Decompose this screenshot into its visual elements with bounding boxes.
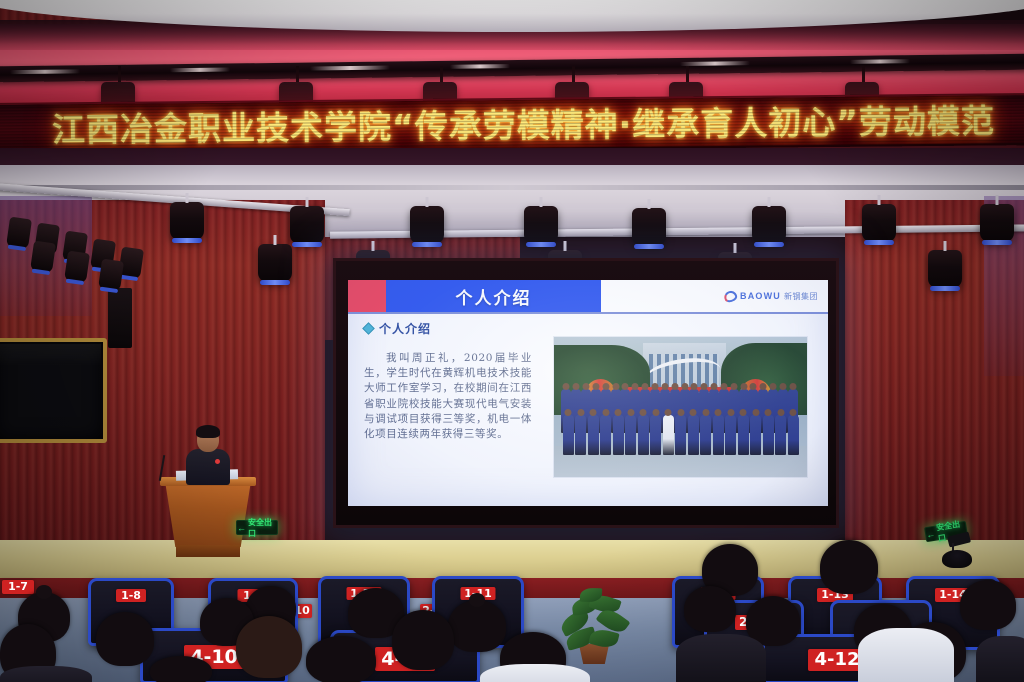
audience-member-head xyxy=(684,586,736,632)
slide-header-accent xyxy=(348,280,386,312)
photo-person xyxy=(625,415,636,455)
presentation-slide: 个人介绍 BAOWU 新钢集团 个人介绍 我叫周正礼，2020届毕业生，学生时代… xyxy=(348,280,828,506)
auditorium-scene: 江西冶金职业技术学院“传承劳模精神·继承育人初心”劳动模范 个人介绍 xyxy=(0,0,1024,682)
photo-person xyxy=(738,415,749,455)
slide-header-title-block: 个人介绍 xyxy=(386,280,601,312)
photo-person xyxy=(575,415,586,455)
stage-light xyxy=(290,206,324,244)
audience-member-shoulders xyxy=(480,664,590,682)
potted-plant xyxy=(556,586,632,664)
stage-light xyxy=(524,206,558,244)
baowu-logo-text: BAOWU xyxy=(740,291,781,301)
photo-person xyxy=(763,415,774,455)
audience-member-head xyxy=(306,636,376,682)
audience-member-head xyxy=(392,610,454,670)
wall-display-screen xyxy=(0,338,107,443)
camera-rig xyxy=(942,534,972,568)
photo-person xyxy=(650,415,661,455)
photo-person xyxy=(775,415,786,455)
stage-light xyxy=(928,250,962,288)
slide-paragraph: 我叫周正礼，2020届毕业生，学生时代在黄辉机电技术技能大师工作室学习，在校期间… xyxy=(360,321,532,506)
stage-light xyxy=(6,217,32,250)
photo-person xyxy=(588,415,599,455)
photo-person xyxy=(788,415,799,455)
stage-light xyxy=(30,241,56,274)
stage-light xyxy=(752,206,786,244)
photo-people-group xyxy=(559,390,802,454)
slide-header-logo-area: BAOWU 新钢集团 xyxy=(601,280,828,312)
stage-light xyxy=(980,204,1014,242)
audience-member-shoulders xyxy=(676,634,766,682)
photo-person xyxy=(613,415,624,455)
presenter-hair xyxy=(196,425,220,438)
stage-light xyxy=(258,244,292,282)
photo-person xyxy=(663,415,674,455)
stage-light xyxy=(410,206,444,244)
photo-person xyxy=(600,415,611,455)
audience-member-head xyxy=(448,600,506,652)
camera-body xyxy=(947,532,971,548)
stage-light xyxy=(632,208,666,246)
presenter-body xyxy=(186,449,230,485)
stage-light xyxy=(64,251,90,284)
audience-member-head xyxy=(820,540,878,594)
photo-person xyxy=(638,415,649,455)
baowu-logo-cn: 新钢集团 xyxy=(784,291,818,302)
audience-member-head xyxy=(96,612,154,666)
baowu-logo: BAOWU 新钢集团 xyxy=(724,291,818,302)
led-banner-text: 江西冶金职业技术学院“传承劳模精神·继承育人初心”劳动模范 xyxy=(52,97,995,154)
slide-title: 个人介绍 xyxy=(456,284,532,309)
exit-arrow-icon: ← xyxy=(237,523,246,533)
baowu-mark-icon xyxy=(723,289,739,303)
presenter-badge xyxy=(215,459,220,464)
stage-light xyxy=(98,259,124,292)
stage-light xyxy=(170,202,204,240)
presenter xyxy=(186,427,230,483)
audience-member-shoulders xyxy=(976,636,1024,682)
photo-person xyxy=(563,415,574,455)
exit-sign-label: 安全出口 xyxy=(248,517,277,539)
photo-person xyxy=(750,415,761,455)
seat-number-tag: 1-7 xyxy=(2,580,34,594)
audience-member-head xyxy=(960,580,1016,630)
audience-member-head xyxy=(150,656,212,682)
photo-person xyxy=(688,415,699,455)
wall-speaker-box xyxy=(108,288,132,348)
podium-base xyxy=(176,545,240,557)
exit-sign-left: ← 安全出口 xyxy=(236,520,278,535)
exit-arrow-icon: ← xyxy=(925,528,935,539)
slide-header: 个人介绍 BAOWU 新钢集团 xyxy=(348,280,828,312)
audience-member-head xyxy=(236,616,302,678)
photo-person xyxy=(725,415,736,455)
slide-group-photo xyxy=(553,336,808,478)
seat-number-tag: 1-8 xyxy=(116,589,146,602)
projection-screen: 个人介绍 BAOWU 新钢集团 个人介绍 我叫周正礼，2020届毕业生，学生时代… xyxy=(333,258,839,528)
camera-operator-head xyxy=(942,550,972,568)
photo-person xyxy=(675,415,686,455)
photo-person xyxy=(713,415,724,455)
stage-light xyxy=(862,204,896,242)
audience-member-shoulders xyxy=(858,628,954,682)
led-banner: 江西冶金职业技术学院“传承劳模精神·继承育人初心”劳动模范 xyxy=(0,93,1024,155)
photo-person xyxy=(700,415,711,455)
audience-member-shoulders xyxy=(0,666,92,682)
podium xyxy=(165,481,251,547)
